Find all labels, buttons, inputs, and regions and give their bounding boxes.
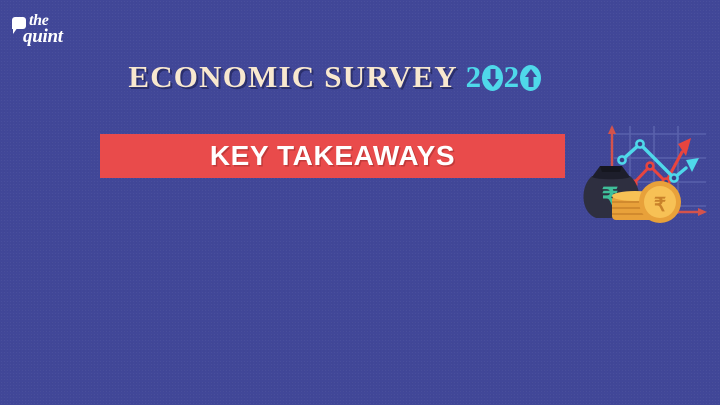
money-bag-coins-growth-chart-illustration: ₹ ₹ [578, 120, 718, 238]
rupee-symbol-coin: ₹ [654, 195, 666, 216]
banner-title: KEY TAKEAWAYS [210, 140, 455, 172]
title-year: 22 [466, 59, 542, 94]
key-takeaways-banner: KEY TAKEAWAYS [100, 134, 565, 178]
logo-line-quint: quint [23, 26, 63, 48]
arrow-up-icon [520, 65, 541, 91]
the-quint-logo[interactable]: the quint [12, 14, 76, 54]
illustration-svg: ₹ ₹ [578, 120, 718, 238]
arrow-down-icon [482, 65, 503, 91]
year-digit-third: 2 [504, 59, 520, 94]
year-digit-first: 2 [466, 59, 482, 94]
economic-survey-slide: the quint ECONOMIC SURVEY 22 KEY TAKEAWA… [0, 0, 720, 405]
page-title: ECONOMIC SURVEY 22 [100, 60, 570, 94]
title-main-text: ECONOMIC SURVEY [128, 59, 456, 94]
rupee-coin-icon: ₹ [639, 181, 681, 223]
cyan-arrow-head-icon [686, 158, 699, 172]
